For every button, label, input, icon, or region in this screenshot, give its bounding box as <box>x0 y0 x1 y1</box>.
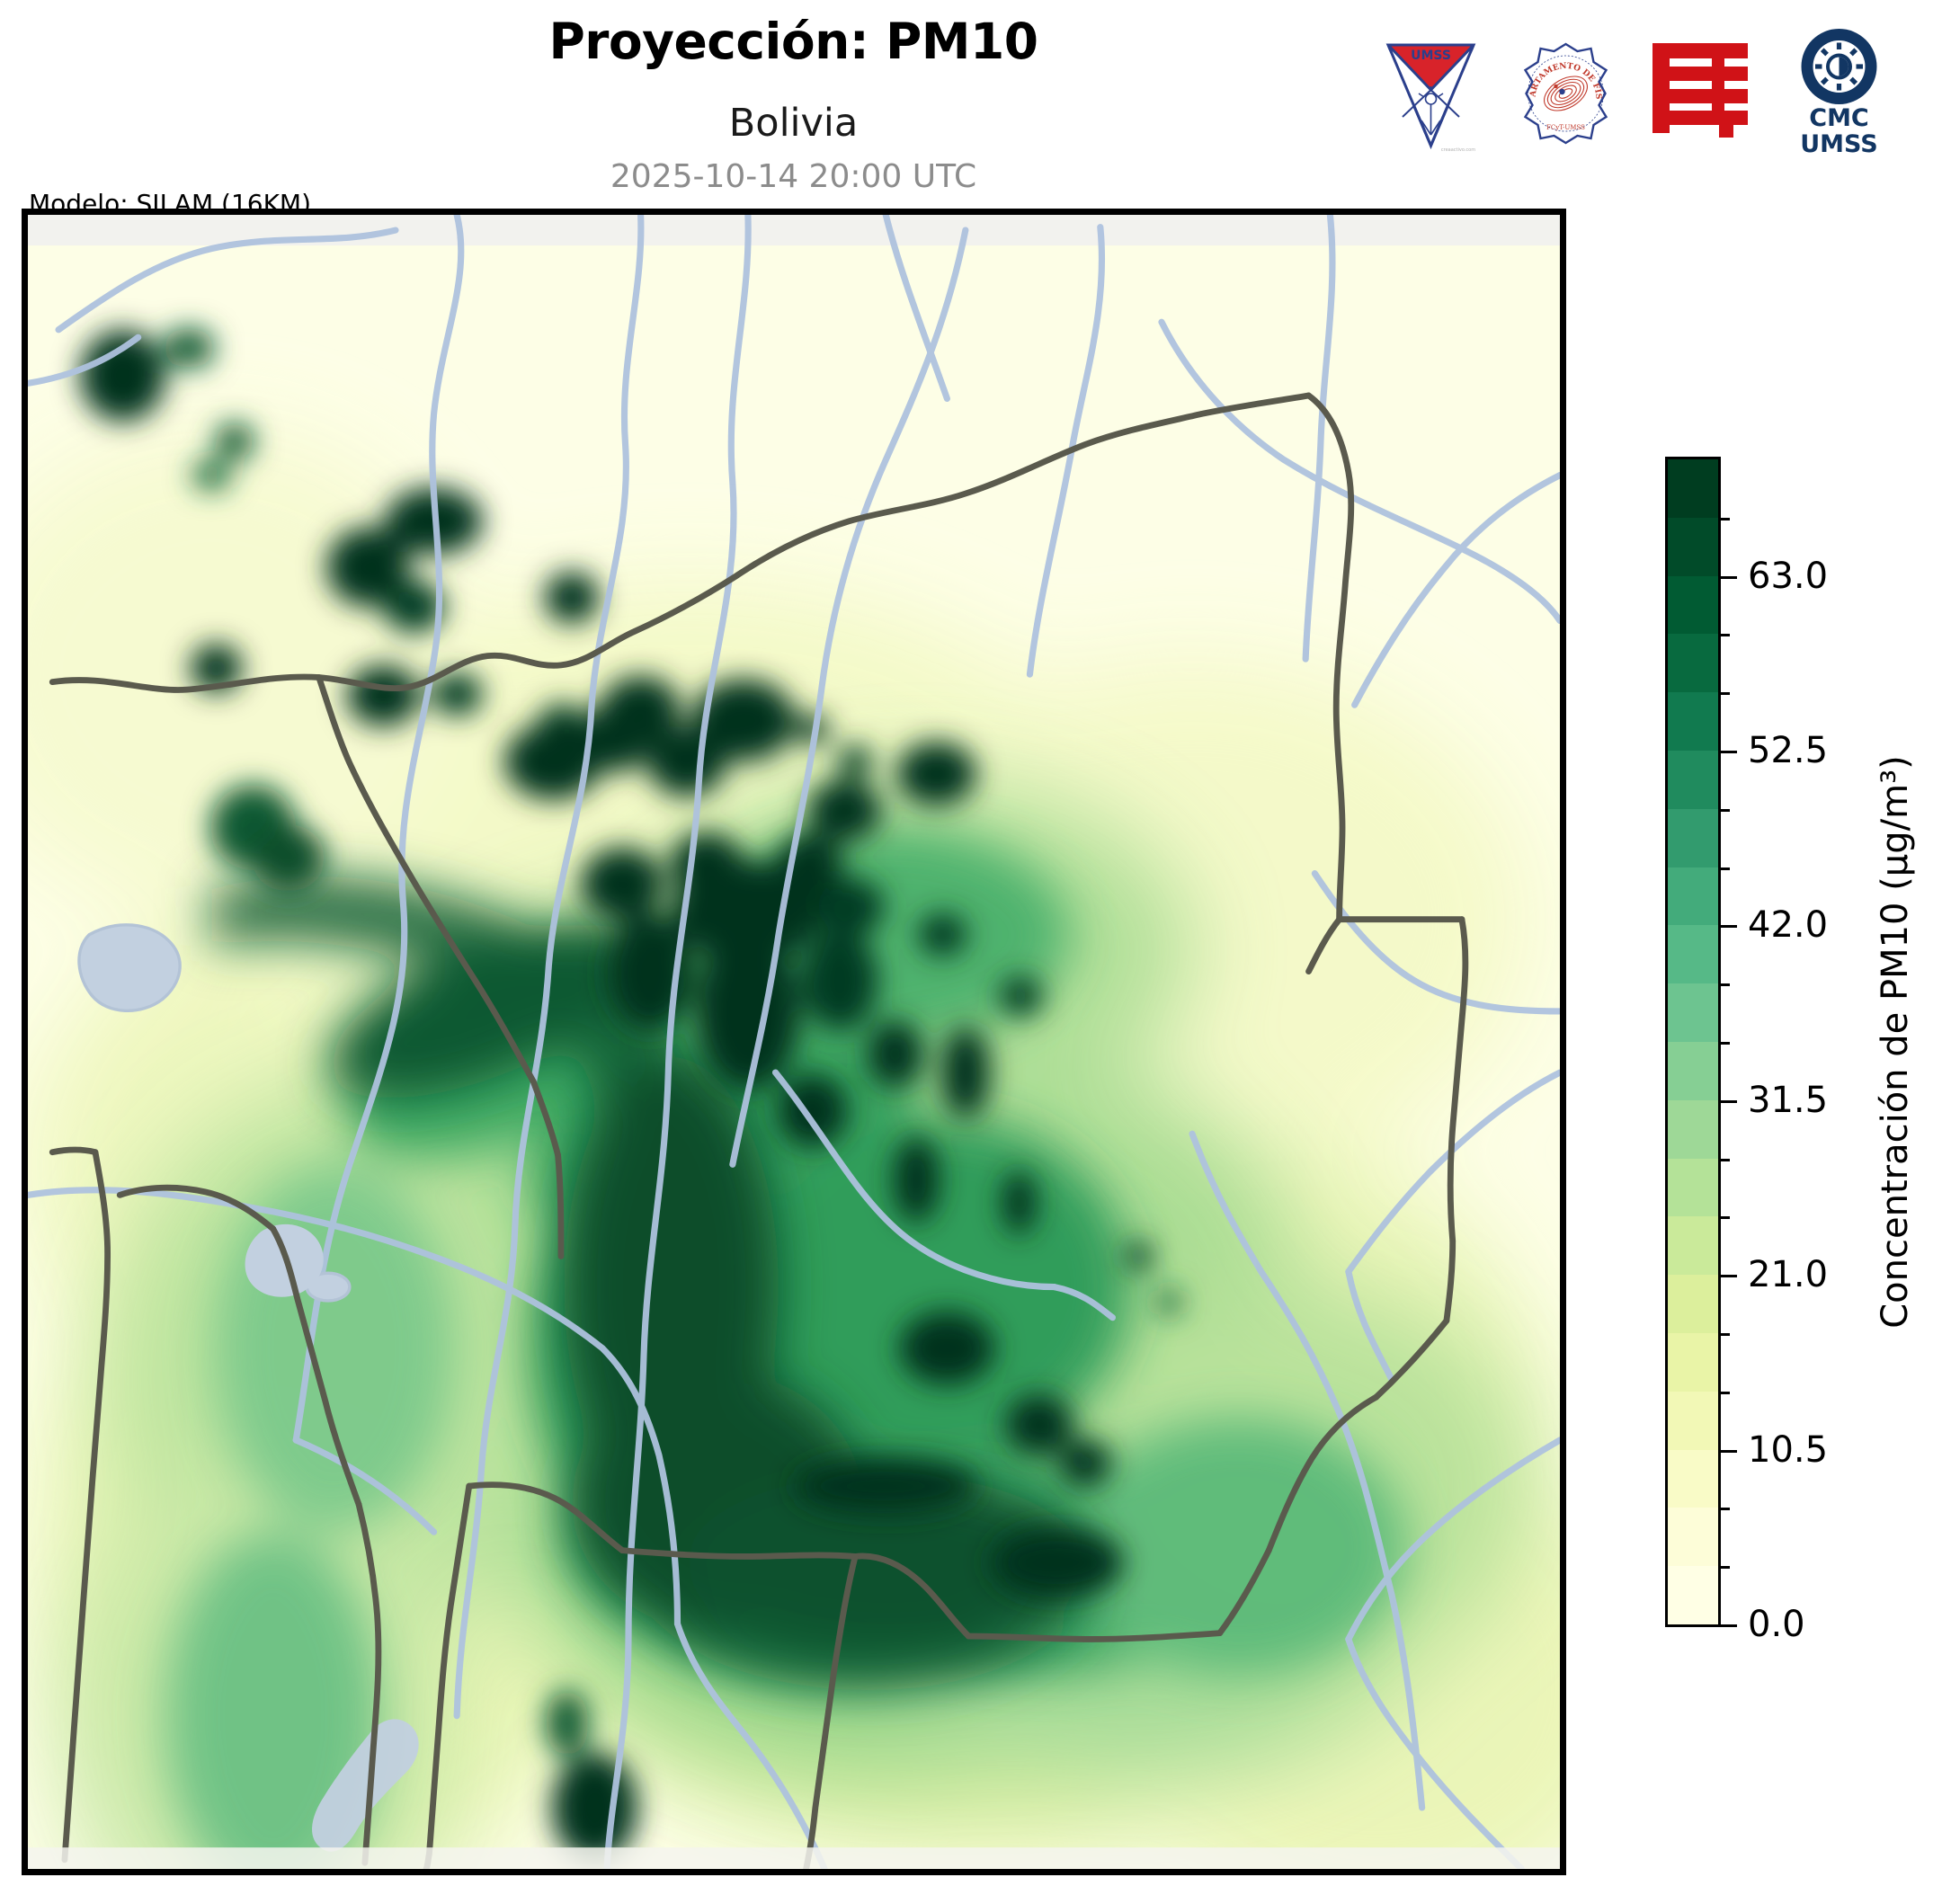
colorbar-band <box>1668 983 1718 1042</box>
colorbar-band <box>1668 634 1718 692</box>
umss-logo: UMSS creaactivo.com <box>1370 20 1492 155</box>
colorbar-major-tick <box>1721 1100 1737 1103</box>
pm10-forecast-figure: Proyección: PM10 Bolivia 2025-10-14 20:0… <box>0 0 1942 1904</box>
page-title: Proyección: PM10 <box>0 13 1587 70</box>
colorbar-band <box>1668 1450 1718 1508</box>
svg-text:FCyT-UMSS: FCyT-UMSS <box>1546 124 1585 131</box>
colorbar-major-tick <box>1721 1275 1737 1277</box>
colorbar-minor-tick <box>1721 1392 1730 1394</box>
colorbar-band <box>1668 809 1718 867</box>
colorbar-minor-tick <box>1721 1566 1730 1569</box>
colorbar-tick-label: 10.5 <box>1748 1429 1828 1471</box>
departamento-de-fisica-logo: DEPARTAMENTO DE FÍSICA FCyT-UMSS <box>1505 20 1626 155</box>
colorbar-tick-label: 52.5 <box>1748 730 1828 771</box>
colorbar-tick-label: 21.0 <box>1748 1254 1828 1295</box>
colorbar-minor-tick <box>1721 983 1730 986</box>
colorbar-tick-label: 63.0 <box>1748 556 1828 597</box>
colorbar-minor-tick <box>1721 692 1730 695</box>
colorbar-tick-label: 42.0 <box>1748 904 1828 946</box>
colorbar-minor-tick <box>1721 867 1730 870</box>
colorbar: 63.052.542.031.521.010.50.0 Concentració… <box>1665 457 1935 1633</box>
colorbar-major-tick <box>1721 576 1737 579</box>
colorbar-band <box>1668 1100 1718 1159</box>
svg-text:UMSS: UMSS <box>1411 49 1451 63</box>
cmc-umss-logo: CMC UMSS <box>1778 20 1900 155</box>
colorbar-minor-tick <box>1721 518 1730 520</box>
colorbar-minor-tick <box>1721 1216 1730 1219</box>
colorbar-band <box>1668 1042 1718 1100</box>
colorbar-band <box>1668 1508 1718 1566</box>
colorbar-major-tick <box>1721 751 1737 753</box>
svg-text:creaactivo.com: creaactivo.com <box>1441 147 1475 153</box>
colorbar-tick-label: 31.5 <box>1748 1080 1828 1121</box>
colorbar-gradient <box>1665 457 1721 1627</box>
map-contour-field <box>28 215 1560 1869</box>
fcyt-logo <box>1642 20 1763 155</box>
pm10-concentration-map[interactable] <box>22 209 1566 1875</box>
colorbar-band <box>1668 867 1718 926</box>
colorbar-band <box>1668 1392 1718 1450</box>
colorbar-band <box>1668 459 1718 518</box>
colorbar-minor-tick <box>1721 1333 1730 1336</box>
colorbar-major-tick <box>1721 925 1737 928</box>
colorbar-minor-tick <box>1721 634 1730 636</box>
colorbar-band <box>1668 1333 1718 1392</box>
colorbar-minor-tick <box>1721 1042 1730 1045</box>
colorbar-axis-label: Concentración de PM10 (µg/m³) <box>1868 457 1922 1627</box>
cmc-logo-line2: UMSS <box>1800 130 1877 155</box>
colorbar-band <box>1668 576 1718 635</box>
colorbar-band <box>1668 751 1718 809</box>
colorbar-band <box>1668 518 1718 576</box>
colorbar-minor-tick <box>1721 1508 1730 1510</box>
colorbar-major-tick <box>1721 1450 1737 1453</box>
colorbar-band <box>1668 925 1718 983</box>
colorbar-tick-label: 0.0 <box>1748 1604 1805 1645</box>
logo-row: UMSS creaactivo.com <box>1363 20 1920 164</box>
colorbar-band <box>1668 1216 1718 1275</box>
colorbar-minor-tick <box>1721 1159 1730 1161</box>
colorbar-band <box>1668 1159 1718 1217</box>
colorbar-band <box>1668 1275 1718 1333</box>
cmc-logo-line1: CMC <box>1809 104 1869 132</box>
map-canvas <box>28 215 1560 1869</box>
colorbar-band <box>1668 1566 1718 1624</box>
colorbar-minor-tick <box>1721 809 1730 812</box>
colorbar-major-tick <box>1721 1624 1737 1627</box>
colorbar-band <box>1668 692 1718 751</box>
